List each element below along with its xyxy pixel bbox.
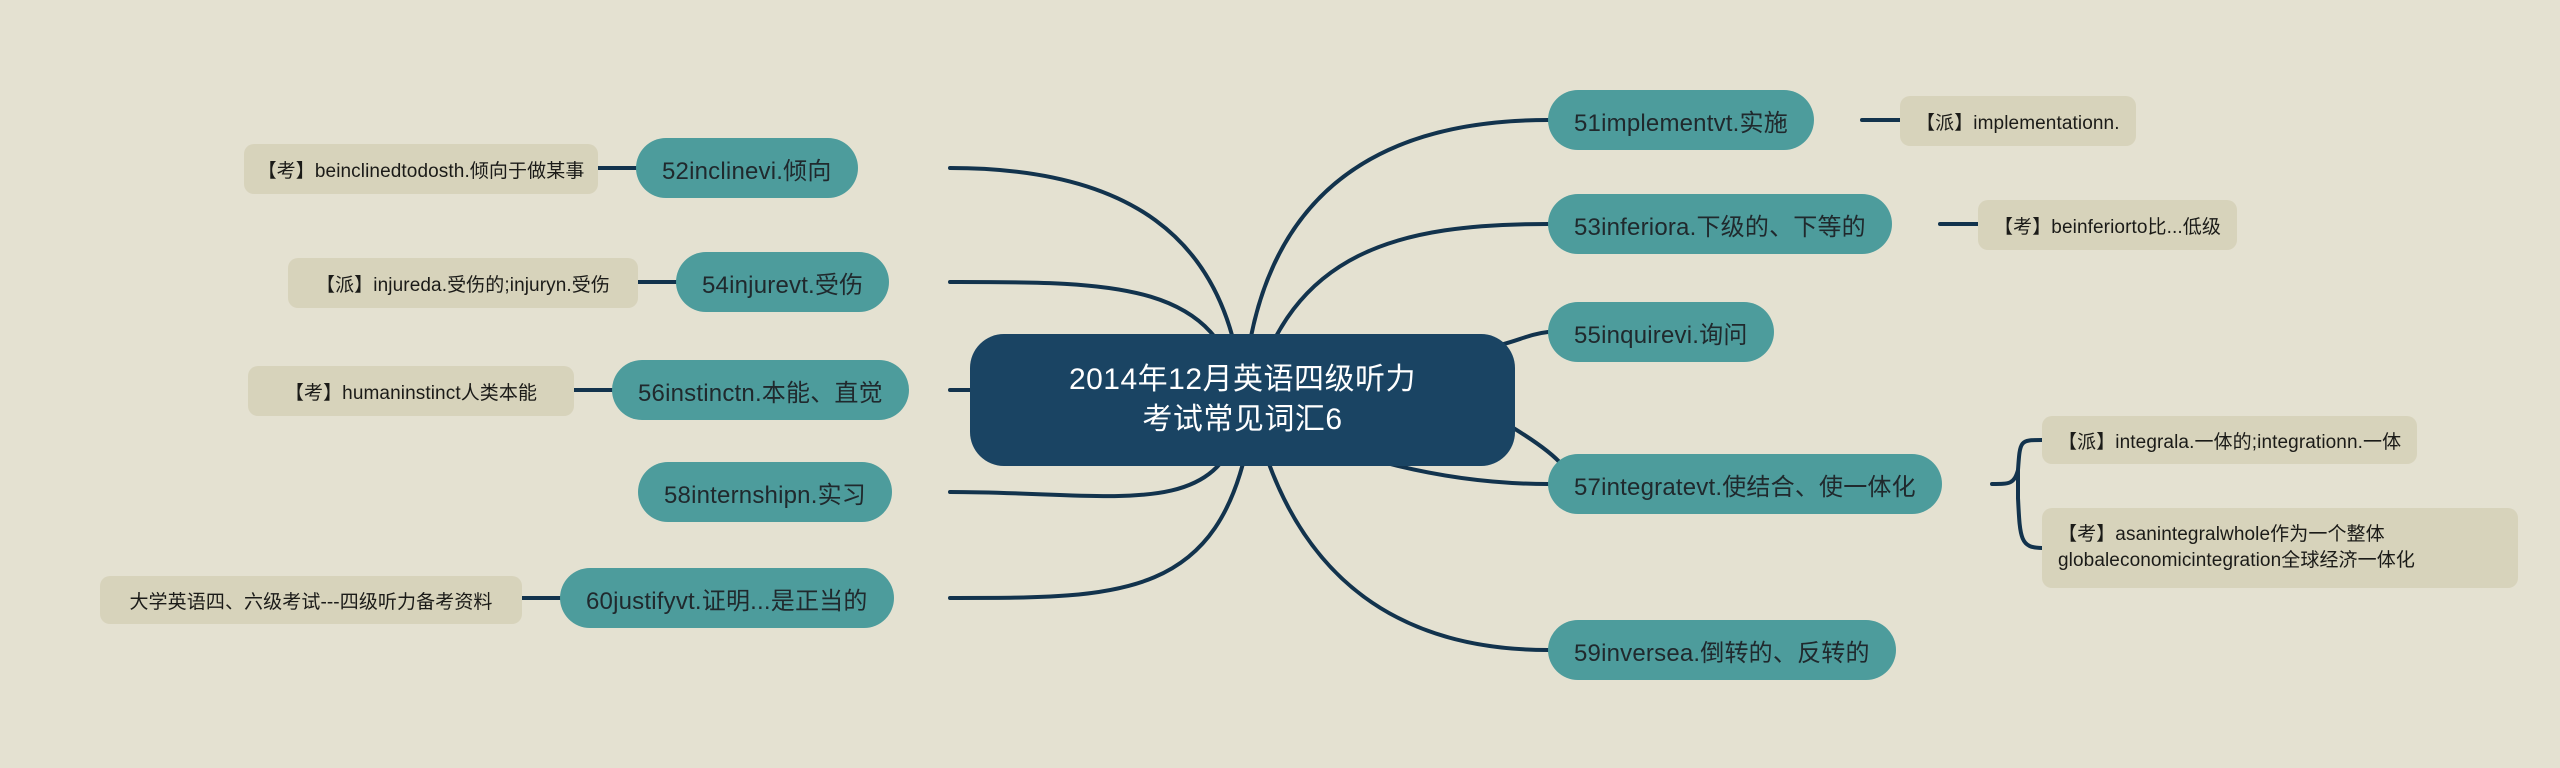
branch-label: 56instinctn.本能、直觉 <box>638 373 883 408</box>
branch-label: 59inversea.倒转的、反转的 <box>1574 633 1870 668</box>
leaf-label: 【考】beinclinedtodosth.倾向于做某事 <box>258 156 585 183</box>
branch-label: 60justifyvt.证明...是正当的 <box>586 581 868 616</box>
leaf-label: 【考】humaninstinct人类本能 <box>285 378 537 405</box>
leaf-label: 【派】injureda.受伤的;injuryn.受伤 <box>316 270 610 297</box>
leaf-label: 【考】beinferiorto比...低级 <box>1994 212 2221 239</box>
leaf-node-humaninstinct[interactable]: 【考】humaninstinct人类本能 <box>248 366 574 416</box>
leaf-label: 【考】asanintegralwhole作为一个整体globaleconomic… <box>2058 522 2502 574</box>
branch-node-60justify[interactable]: 60justifyvt.证明...是正当的 <box>560 568 894 628</box>
branch-node-53inferior[interactable]: 53inferiora.下级的、下等的 <box>1548 194 1892 254</box>
edge-57-to-child1 <box>2018 440 2042 470</box>
branch-label: 54injurevt.受伤 <box>702 265 863 300</box>
leaf-label: 大学英语四、六级考试---四级听力备考资料 <box>129 587 492 614</box>
branch-label: 58internshipn.实习 <box>664 475 866 510</box>
branch-label: 51implementvt.实施 <box>1574 103 1788 138</box>
root-title-line-2: 考试常见词汇6 <box>1142 400 1342 440</box>
edge-57-to-child-trunk <box>1992 470 2018 484</box>
leaf-node-injured-injury[interactable]: 【派】injureda.受伤的;injuryn.受伤 <box>288 258 638 308</box>
root-node[interactable]: 2014年12月英语四级听力 考试常见词汇6 <box>970 334 1515 466</box>
leaf-node-beinferiorto[interactable]: 【考】beinferiorto比...低级 <box>1978 200 2237 250</box>
branch-node-58internship[interactable]: 58internshipn.实习 <box>638 462 892 522</box>
leaf-label: 【派】implementationn. <box>1916 108 2120 135</box>
branch-node-56instinct[interactable]: 56instinctn.本能、直觉 <box>612 360 909 420</box>
branch-label: 57integratevt.使结合、使一体化 <box>1574 467 1916 502</box>
branch-label: 55inquirevi.询问 <box>1574 315 1748 350</box>
branch-node-55inquire[interactable]: 55inquirevi.询问 <box>1548 302 1774 362</box>
edge-root-to-55 <box>1500 332 1548 345</box>
branch-node-59inverse[interactable]: 59inversea.倒转的、反转的 <box>1548 620 1896 680</box>
branch-node-51implement[interactable]: 51implementvt.实施 <box>1548 90 1814 150</box>
root-title-line-1: 2014年12月英语四级听力 <box>1069 360 1416 400</box>
leaf-node-integral-derivatives[interactable]: 【派】integrala.一体的;integrationn.一体 <box>2042 416 2417 464</box>
branch-label: 53inferiora.下级的、下等的 <box>1574 207 1866 242</box>
leaf-node-beinclinedtodosth[interactable]: 【考】beinclinedtodosth.倾向于做某事 <box>244 144 598 194</box>
leaf-label: 【派】integrala.一体的;integrationn.一体 <box>2058 427 2401 454</box>
leaf-node-asanintegralwhole[interactable]: 【考】asanintegralwhole作为一个整体globaleconomic… <box>2042 508 2518 588</box>
branch-label: 52inclinevi.倾向 <box>662 151 832 186</box>
branch-node-57integrate[interactable]: 57integratevt.使结合、使一体化 <box>1548 454 1942 514</box>
edge-57-to-child2 <box>2018 498 2042 548</box>
leaf-node-cet-listening-material[interactable]: 大学英语四、六级考试---四级听力备考资料 <box>100 576 522 624</box>
mindmap-canvas: 2014年12月英语四级听力 考试常见词汇6 51implementvt.实施 … <box>0 0 2560 768</box>
leaf-node-implementation[interactable]: 【派】implementationn. <box>1900 96 2136 146</box>
branch-node-52incline[interactable]: 52inclinevi.倾向 <box>636 138 858 198</box>
branch-node-54injure[interactable]: 54injurevt.受伤 <box>676 252 889 312</box>
